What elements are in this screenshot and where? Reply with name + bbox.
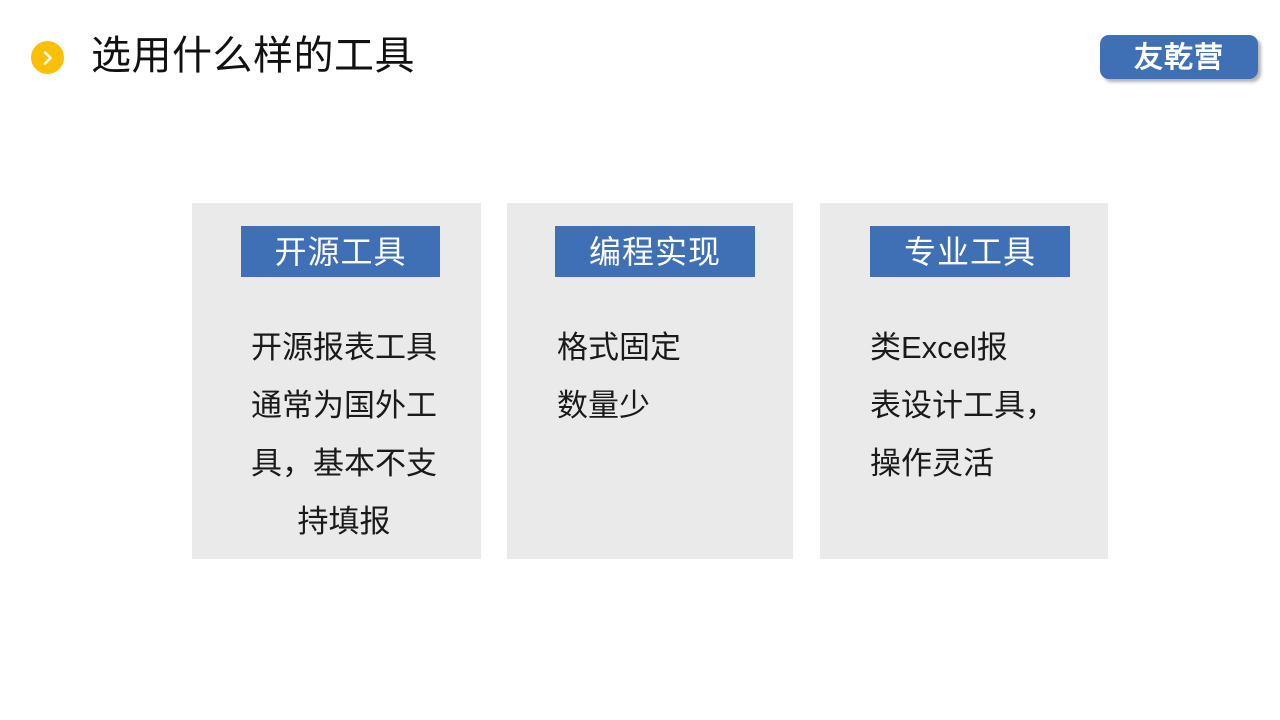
card-header-label: 开源工具 <box>274 236 406 268</box>
card-body-line: 数量少 <box>557 377 777 435</box>
slide-root: 选用什么样的工具 友乾营 开源工具 开源报表工具 通常为国外工 具，基本不支 持… <box>0 0 1280 720</box>
card-body-open-source-tools: 开源报表工具 通常为国外工 具，基本不支 持填报 <box>246 319 442 551</box>
card-body-line: 通常为国外工 <box>246 377 442 435</box>
card-body-professional-tools: 类Excel报 表设计工具， 操作灵活 <box>870 319 1090 493</box>
card-body-line: 操作灵活 <box>870 435 1090 493</box>
card-body-line: 开源报表工具 <box>246 319 442 377</box>
card-body-line: 类Excel报 <box>870 319 1090 377</box>
card-header-open-source-tools: 开源工具 <box>241 226 440 277</box>
card-group: 开源工具 开源报表工具 通常为国外工 具，基本不支 持填报 编程实现 格式固定 … <box>0 0 1280 720</box>
card-body-line: 持填报 <box>246 493 442 551</box>
card-header-programming-implementation: 编程实现 <box>555 226 755 277</box>
card-body-programming-implementation: 格式固定 数量少 <box>557 319 777 435</box>
card-professional-tools: 专业工具 类Excel报 表设计工具， 操作灵活 <box>820 203 1108 559</box>
card-open-source-tools: 开源工具 开源报表工具 通常为国外工 具，基本不支 持填报 <box>192 203 481 559</box>
card-body-line: 具，基本不支 <box>246 435 442 493</box>
card-header-label: 专业工具 <box>904 236 1036 268</box>
card-body-line: 表设计工具， <box>870 377 1090 435</box>
card-header-professional-tools: 专业工具 <box>870 226 1070 277</box>
card-programming-implementation: 编程实现 格式固定 数量少 <box>507 203 793 559</box>
card-header-label: 编程实现 <box>589 236 721 268</box>
card-body-line: 格式固定 <box>557 319 777 377</box>
